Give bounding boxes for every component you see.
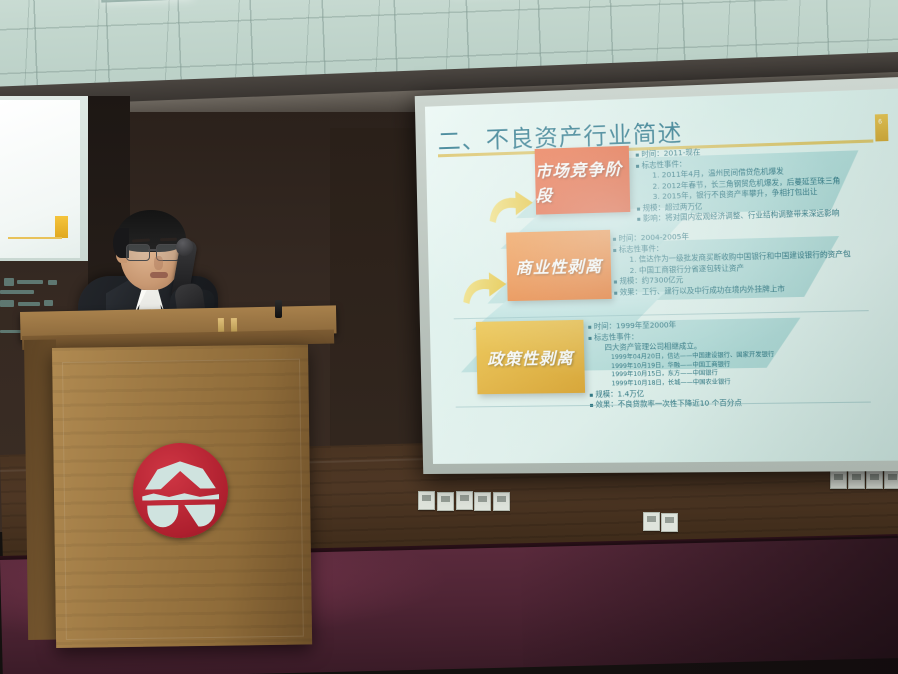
- presentation-slide: 二、不良资产行业简述 6: [425, 88, 898, 464]
- speaker-mouth: [150, 272, 168, 278]
- wall-outlet[interactable]: [866, 470, 883, 489]
- speaker-nose: [154, 256, 163, 270]
- wall-outlet[interactable]: [848, 470, 865, 489]
- wall-outlet[interactable]: [830, 470, 847, 489]
- secondary-screen-text-block: [48, 280, 57, 285]
- glasses-icon: [126, 244, 180, 259]
- wall-outlet[interactable]: [661, 513, 678, 532]
- secondary-screen-text-block: [44, 300, 53, 306]
- wall-outlet[interactable]: [437, 492, 454, 511]
- secondary-screen-text-block: [18, 302, 40, 306]
- projection-screen: 二、不良资产行业简述 6: [425, 88, 898, 464]
- projection-screen-frame: 二、不良资产行业简述 6: [415, 77, 898, 474]
- podium-notch: [231, 318, 237, 332]
- emblem-lower-right-shape: [184, 504, 215, 527]
- slide-page-number: 6: [878, 119, 882, 125]
- glasses-lens-left: [126, 244, 150, 261]
- carpet-shadow: [520, 535, 898, 674]
- secondary-screen-text-block: [17, 280, 43, 284]
- emblem-lower-left-shape: [147, 505, 178, 528]
- stage-2-bullets: 时间：2004-2005年 标志性事件： 1. 信达作为一级批发商买断收购中国银…: [612, 227, 851, 298]
- emblem-arc-shape: [144, 458, 216, 489]
- wall-outlet[interactable]: [884, 470, 898, 489]
- stage-box-1: 市场竞争阶段: [535, 146, 631, 215]
- stage-1-bullets: 时间：2011-现在 标志性事件： 1. 2011年4月，温州民间借贷危机爆发 …: [635, 143, 841, 225]
- secondary-screen-title-rule: [8, 237, 62, 239]
- wall-outlet[interactable]: [643, 512, 660, 531]
- slide-page-badge: 6: [875, 114, 889, 141]
- stage-1-label: 市场竞争阶段: [535, 154, 630, 206]
- conference-room-photo: 二、不良资产行业简述 6: [0, 0, 898, 674]
- wall-outlet[interactable]: [493, 492, 510, 511]
- wall-outlet[interactable]: [474, 492, 491, 511]
- stage-3-bullets: 时间：1999年至2000年 标志性事件： 四大资产管理公司相继成立。 1999…: [588, 318, 776, 411]
- secondary-screen-text-block: [0, 290, 34, 294]
- arrow-to-stage-2-icon: [461, 271, 508, 308]
- wall-outlet[interactable]: [418, 491, 435, 510]
- podium-microphone-stub[interactable]: [275, 300, 282, 318]
- stage-3-label: 政策性剥离: [487, 344, 574, 370]
- glasses-bridge: [148, 249, 156, 251]
- stage-box-2: 商业性剥离: [506, 230, 612, 301]
- podium-notch: [218, 318, 224, 332]
- stage-2-label: 商业性剥离: [515, 252, 602, 278]
- stage-box-3: 政策性剥离: [476, 320, 585, 394]
- secondary-screen-tab-icon: [55, 216, 68, 238]
- arrow-to-stage-1-icon: [487, 189, 534, 227]
- speaker-eyebrow-right: [160, 238, 177, 242]
- emblem-wave-bar: [142, 492, 219, 500]
- secondary-projection-screen: [0, 100, 80, 258]
- secondary-screen-text-block: [0, 300, 14, 307]
- wall-outlet[interactable]: [456, 491, 473, 510]
- secondary-screen-text-block: [4, 278, 14, 286]
